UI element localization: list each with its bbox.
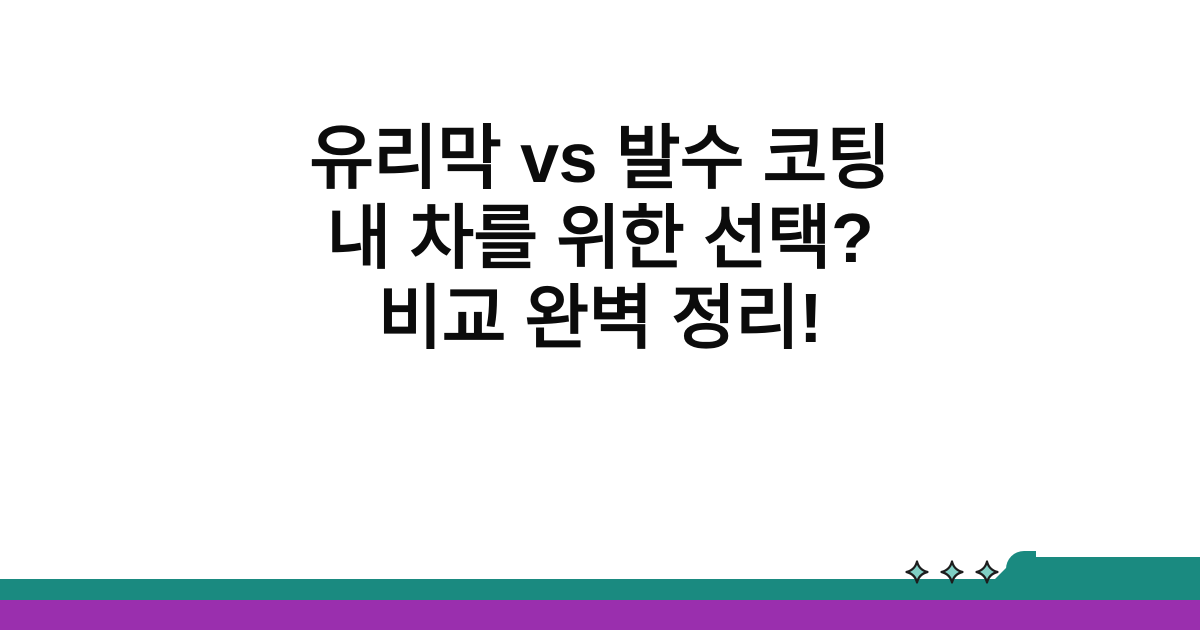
footer-purple-band [0, 600, 1200, 630]
headline-line-1: 유리막 vs 발수 코팅 [0, 118, 1200, 198]
thumbnail-card: 유리막 vs 발수 코팅 내 차를 위한 선택? 비교 완벽 정리! [0, 0, 1200, 630]
sparkle-diamond-icon [940, 560, 964, 584]
headline-block: 유리막 vs 발수 코팅 내 차를 위한 선택? 비교 완벽 정리! [0, 0, 1200, 545]
sparkle-diamond-icon [905, 560, 929, 584]
sparkle-diamond-icon [975, 560, 999, 584]
headline-line-2: 내 차를 위한 선택? [0, 198, 1200, 278]
footer-sparkle-group [905, 557, 1005, 587]
headline-line-3: 비교 완벽 정리! [0, 278, 1200, 358]
